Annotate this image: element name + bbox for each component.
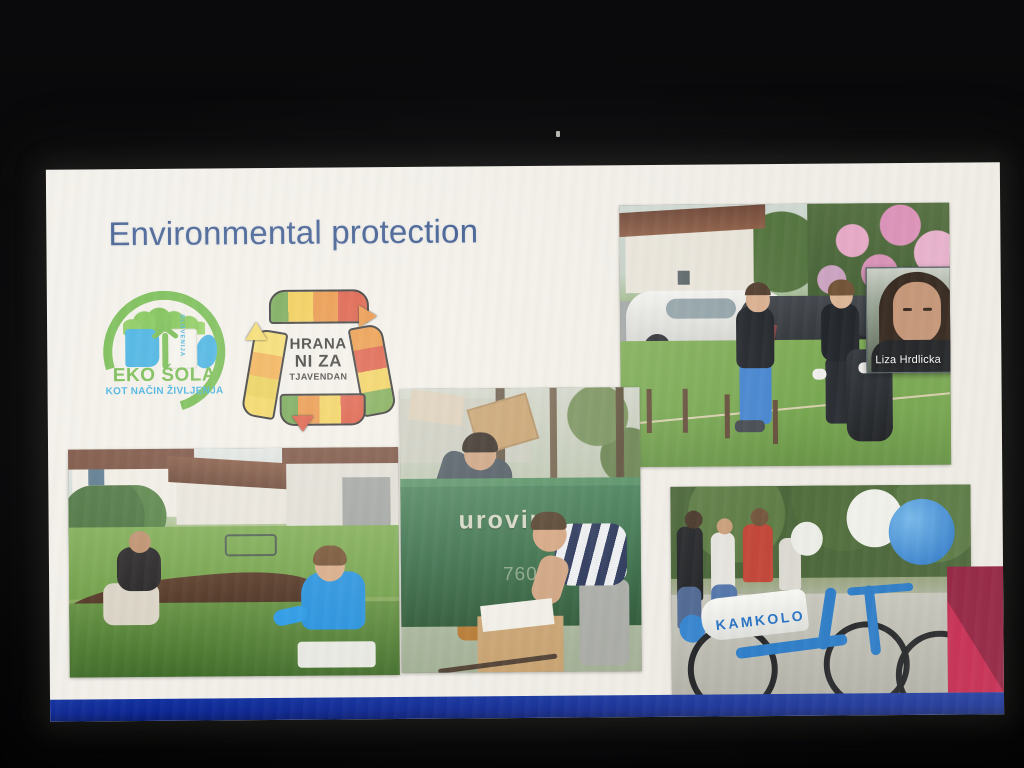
student-with-picker [732,306,777,438]
photo-litter-cleanup: Liza Hrdlicka [619,203,951,468]
person-figure-icon [153,321,177,371]
hrana-line-2: NI ZA [243,351,393,372]
logo-line-2: KOT NAČIN ŽIVLJENJA [102,385,228,397]
white-balloon-small [791,522,823,556]
hrana-line-3: TJAVENDAN [243,371,393,382]
arrow-tip-bottom-icon [292,416,314,432]
seedling-tray [298,641,376,668]
photo-bike-share: KAMKOLO [670,485,972,699]
slide-corner-accent [947,566,1004,692]
video-call-overlay[interactable]: Liza Hrdlicka [866,266,952,374]
pointer-speck [556,131,560,137]
participant-name-label: Liza Hrdlicka [875,354,941,367]
recycle-arrow-top-icon [269,289,369,324]
parked-bicycle [225,534,277,556]
hrana-ni-za-tjavendan-logo: HRANA NI ZA TJAVENDAN [243,285,394,426]
eko-sola-logo: SLOVENIJA EKO ŠOLA KOT NAČIN ŽIVLJENJA [101,288,228,415]
glove-left [812,369,826,380]
page-title: Environmental protection [108,212,478,253]
blue-balloon-large [888,499,955,566]
arrow-tip-top-icon [359,305,377,327]
photo-cardboard-recycling: urovina 760 [400,387,642,673]
logo-line-1: EKO ŠOLA [101,364,227,387]
tree-trunk-2 [549,387,557,484]
logo-side-text: SLOVENIJA [178,314,184,357]
photo-garden-planting [68,447,400,678]
presentation-slide[interactable]: Environmental protection SLOVENIJA EKO Š… [46,162,1004,721]
screen-capture: Environmental protection SLOVENIJA EKO Š… [0,0,1024,768]
